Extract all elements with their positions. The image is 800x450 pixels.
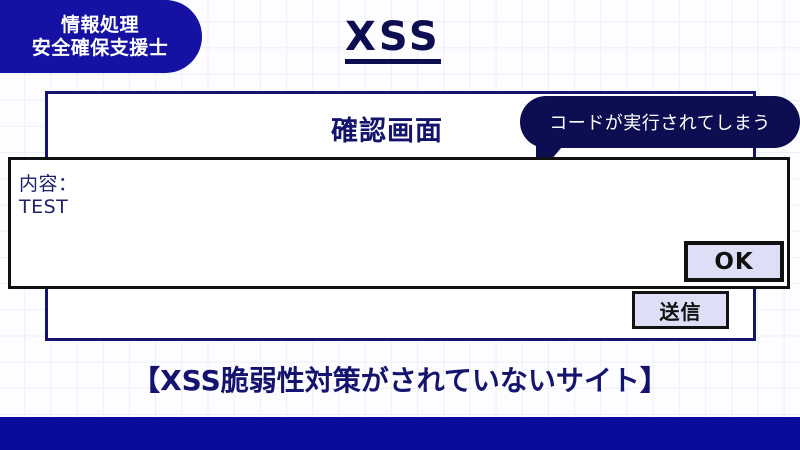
callout-bubble: コードが実行されてしまう [520,96,800,148]
alert-content-label: 内容： [19,169,78,196]
certification-badge-line-1: 情報処理 [61,14,139,36]
slide-caption: 【XSS脆弱性対策がされていないサイト】 [0,359,800,399]
confirmation-screen-heading: 確認画面 [331,109,443,148]
ok-button[interactable]: OK [684,241,784,282]
submit-button[interactable]: 送信 [632,291,729,329]
alert-content-value: TEST [19,196,68,218]
certification-badge: 情報処理 安全確保支援士 [0,0,202,73]
certification-badge-line-2: 安全確保支援士 [32,37,169,59]
page-title: XSS [345,16,441,64]
slide-canvas: 情報処理 安全確保支援士 XSS 確認画面 送信 コードが実行されてしまう 内容… [0,0,800,450]
bottom-accent-bar [0,417,800,450]
alert-dialog: 内容： TEST OK [8,157,790,289]
